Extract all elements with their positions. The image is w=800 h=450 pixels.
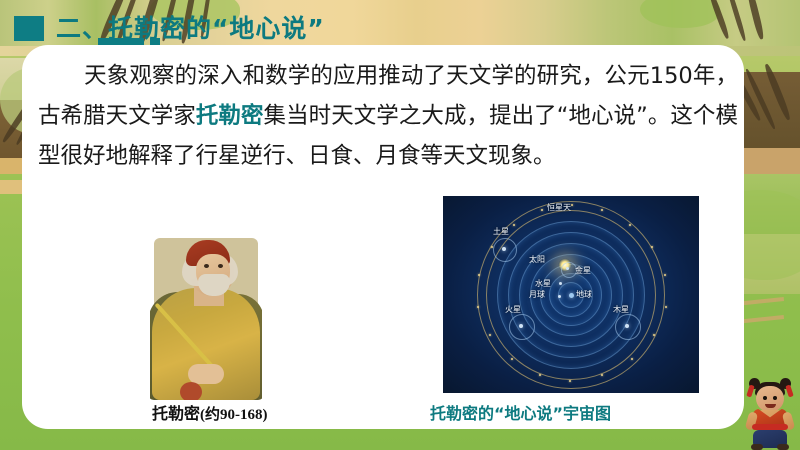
mascot-foot-left	[751, 444, 763, 450]
portrait-eye-right	[218, 264, 223, 268]
zodiac-marker	[664, 274, 666, 276]
title-bullet-square	[14, 16, 44, 41]
slide-root: 二、托勒密的“地心说” 天象观察的深入和数学的应用推动了天文学的研究，公元150…	[0, 0, 800, 450]
venus-body	[566, 267, 569, 270]
diagram-label-mercury: 水星	[535, 280, 551, 288]
saturn-body	[502, 247, 506, 251]
diagram-label-sun: 太阳	[529, 256, 545, 264]
mascot-foot-right	[777, 444, 789, 450]
body-paragraph: 天象观察的深入和数学的应用推动了天文学的研究，公元150年，古希腊天文学家托勒密…	[38, 56, 738, 176]
geocentric-model-diagram: 恒星天 土星 太阳 金星 水星 月球 地球 火星 木星	[443, 196, 699, 393]
title-accent-bar	[98, 38, 144, 45]
jupiter-body	[625, 324, 629, 328]
diagram-label-saturn: 土星	[493, 228, 509, 236]
mascot-ribbon-right	[785, 385, 793, 398]
zodiac-marker	[665, 306, 667, 308]
diagram-label-mars: 火星	[505, 306, 521, 314]
highlighted-term-ptolemy: 托勒密	[196, 103, 264, 129]
ptolemy-portrait	[150, 232, 262, 400]
portrait-hand	[188, 364, 224, 384]
mascot-ribbon-left	[746, 385, 754, 398]
title-text: 二、托勒密的“地心说”	[56, 16, 325, 41]
moon-body	[558, 295, 561, 298]
mercury-body	[559, 282, 562, 285]
page-title: 二、托勒密的“地心说”	[14, 12, 325, 44]
diagram-label-venus: 金星	[575, 267, 591, 275]
portrait-caption-years: (约90-168)	[200, 407, 268, 423]
diagram-label-earth: 地球	[576, 291, 592, 299]
title-accent-dot	[150, 38, 160, 45]
portrait-caption-name: 托勒密	[152, 404, 200, 423]
diagram-label-moon: 月球	[529, 291, 545, 299]
diagram-label-fixed-stars: 恒星天	[547, 204, 571, 212]
portrait-caption: 托勒密(约90-168)	[152, 400, 268, 424]
earth-body	[569, 293, 574, 298]
ptolemy-portrait-image	[150, 232, 262, 400]
diagram-label-jupiter: 木星	[613, 306, 629, 314]
mascot-head	[756, 386, 784, 412]
diagram-caption: 托勒密的“地心说”宇宙图	[430, 400, 611, 424]
mascot-eye-left	[763, 396, 767, 400]
portrait-sphere	[180, 382, 202, 400]
mascot-eye-right	[773, 396, 777, 400]
nezha-mascot	[742, 376, 798, 450]
mars-body	[519, 324, 523, 328]
portrait-eye-left	[204, 264, 209, 268]
